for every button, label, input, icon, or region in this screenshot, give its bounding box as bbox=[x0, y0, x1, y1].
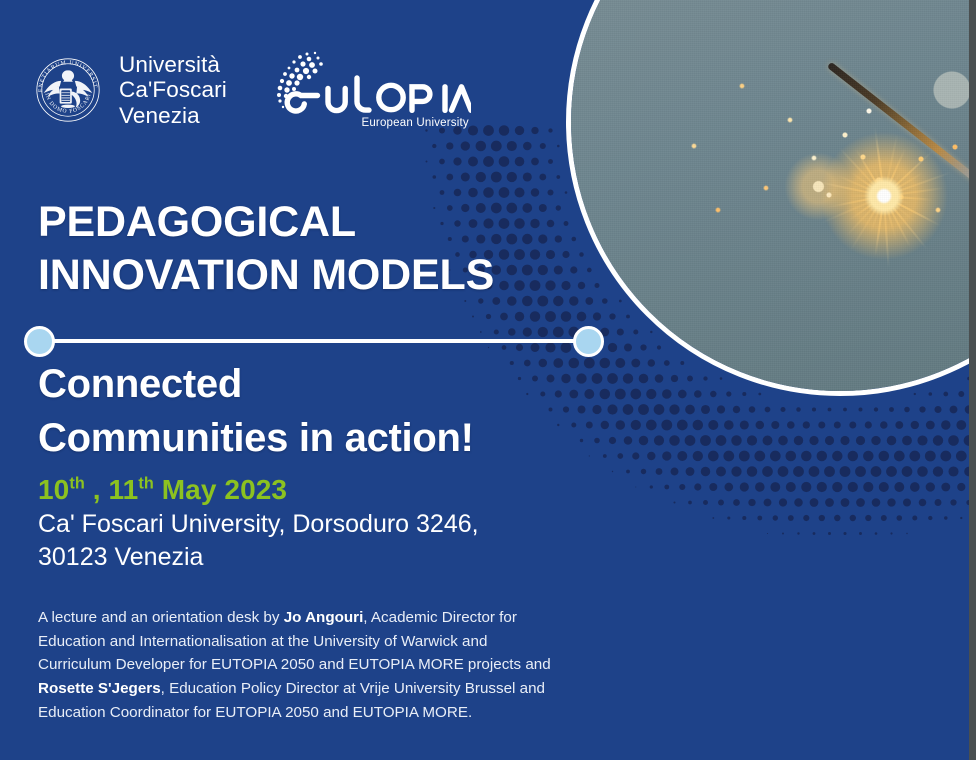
speaker-name-one: Jo Angouri bbox=[284, 609, 364, 626]
divider-node-left bbox=[24, 326, 55, 357]
event-description: A lecture and an orientation desk by Jo … bbox=[38, 606, 558, 725]
date-day-one-suffix: th bbox=[69, 475, 85, 493]
eutopia-dot-swirl bbox=[277, 52, 323, 108]
divider-rule bbox=[24, 326, 604, 356]
divider-node-right bbox=[573, 326, 604, 357]
right-edge-strip bbox=[969, 0, 976, 760]
date-day-two-suffix: th bbox=[138, 475, 154, 493]
eutopia-logo: European University bbox=[271, 48, 471, 132]
ca-foscari-logo: VENETIARUM UNIVERSITAS IN DOMO FOSCARI bbox=[30, 52, 227, 129]
poster-subtitle: Connected Communities in action! bbox=[38, 358, 474, 465]
eutopia-lambda bbox=[451, 87, 471, 111]
divider-bar bbox=[40, 339, 602, 343]
sparkler-photo bbox=[566, 0, 976, 396]
event-date: 10th , 11th May 2023 bbox=[38, 474, 287, 506]
ca-foscari-seal-icon: VENETIARUM UNIVERSITAS IN DOMO FOSCARI bbox=[30, 52, 106, 128]
photo-grain bbox=[571, 0, 976, 391]
date-separator: , bbox=[85, 474, 109, 505]
logo-row: VENETIARUM UNIVERSITAS IN DOMO FOSCARI bbox=[30, 48, 471, 132]
poster-headline: PEDAGOGICAL INNOVATION MODELS bbox=[38, 196, 494, 303]
event-venue: Ca' Foscari University, Dorsoduro 3246, … bbox=[38, 508, 479, 574]
date-day-one: 10 bbox=[38, 474, 69, 505]
date-day-two: 11 bbox=[109, 474, 139, 505]
eutopia-tagline: European University bbox=[361, 117, 468, 129]
eutopia-letters bbox=[287, 78, 445, 111]
description-part-1: A lecture and an orientation desk by bbox=[38, 609, 284, 626]
date-month-year: May 2023 bbox=[154, 474, 287, 505]
event-poster: VENETIARUM UNIVERSITAS IN DOMO FOSCARI bbox=[0, 0, 976, 760]
speaker-name-two: Rosette S'Jegers bbox=[38, 680, 161, 697]
ca-foscari-wordmark: Università Ca'Foscari Venezia bbox=[119, 52, 227, 129]
